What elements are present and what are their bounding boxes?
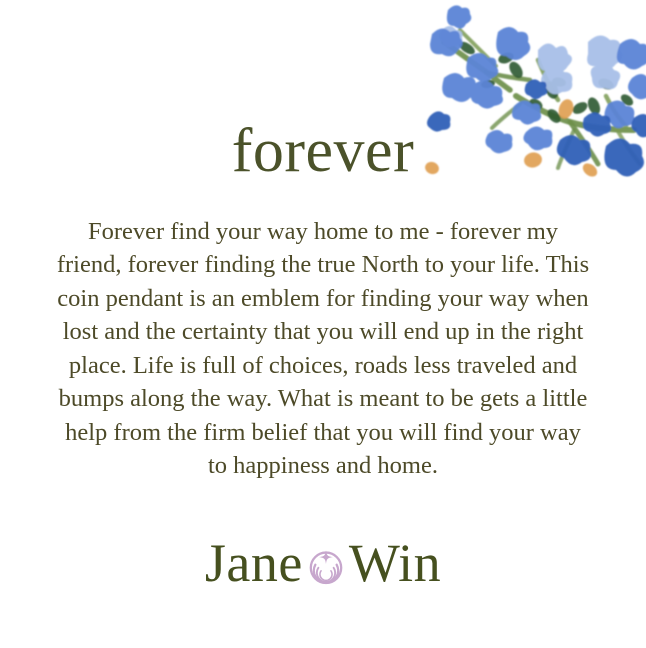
brand-word-win: Win bbox=[349, 533, 441, 593]
crescent-moon-star-emblem bbox=[307, 548, 345, 586]
floral-leaves bbox=[457, 39, 635, 125]
product-description-card: forever Forever find your way home to me… bbox=[0, 0, 646, 648]
page-title: forever bbox=[0, 120, 646, 182]
product-description-text: Forever find your way home to me - forev… bbox=[55, 215, 591, 483]
brand-logo: Jane Win bbox=[0, 533, 646, 593]
brand-word-jane: Jane bbox=[205, 533, 303, 593]
floral-petals-light bbox=[439, 26, 622, 94]
